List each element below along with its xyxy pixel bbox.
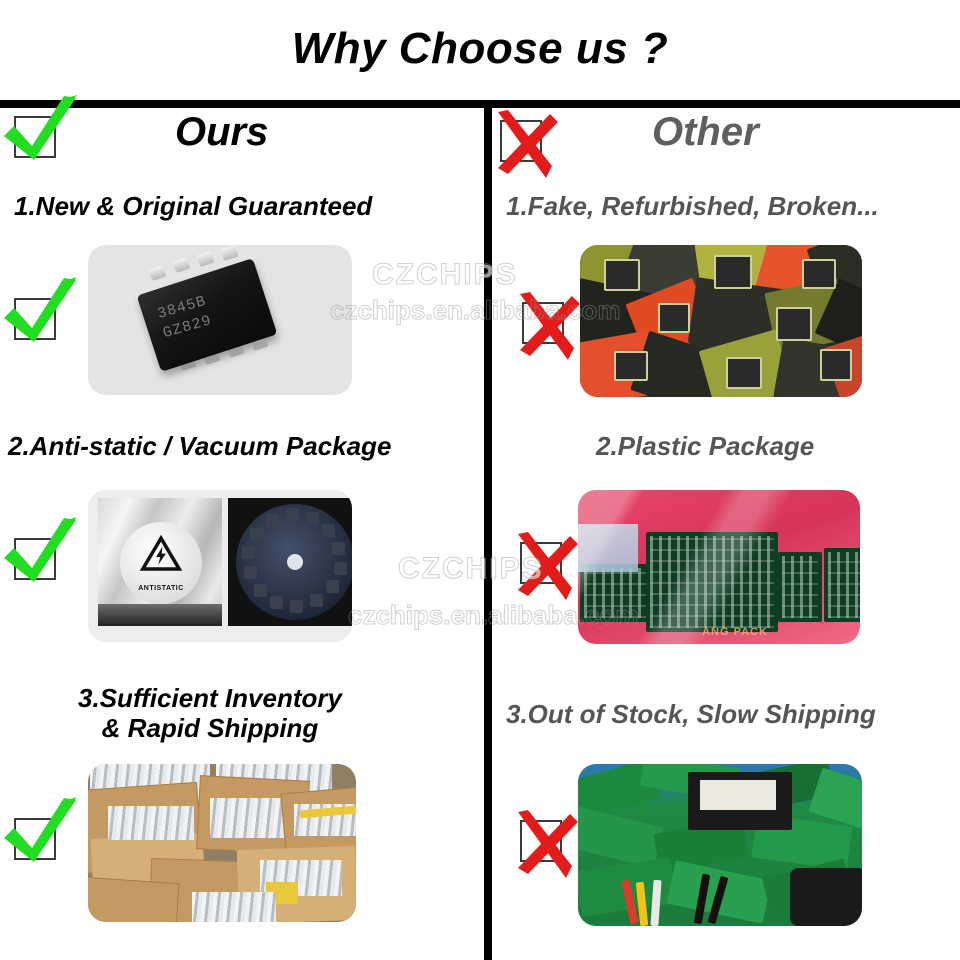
column-label-other: Other	[652, 110, 759, 155]
cross-icon	[490, 108, 560, 180]
pack-print: ANG PACK	[702, 626, 768, 638]
scrap-chips-photo	[580, 245, 862, 397]
checkbox-ours-header[interactable]	[14, 116, 56, 158]
header-divider-horizontal	[0, 100, 960, 108]
row-3-other-title: 3.Out of Stock, Slow Shipping	[506, 700, 876, 730]
soic-chip-photo: 3845BGZ829	[88, 245, 352, 395]
check-icon	[0, 92, 82, 170]
cross-icon	[512, 290, 582, 362]
antistatic-label-disc: ANTISTATIC	[120, 522, 202, 604]
row-1-other-title: 1.Fake, Refurbished, Broken...	[506, 192, 879, 222]
plastic-package-photo: ANG PACK	[578, 490, 860, 644]
comparison-row-2: 2.Anti-static / Vacuum Package	[0, 426, 960, 666]
row-1-ours: 1.New & Original Guaranteed	[0, 190, 484, 422]
checkbox-other-header[interactable]	[500, 120, 542, 162]
row-3-ours-title: 3.Sufficient Inventory& Rapid Shipping	[40, 684, 380, 743]
comparison-row-3: 3.Sufficient Inventory& Rapid Shipping	[0, 678, 960, 960]
cross-icon	[510, 530, 580, 602]
column-header-other: Other	[492, 108, 960, 178]
row-2-ours: 2.Anti-static / Vacuum Package	[0, 426, 484, 666]
tape-reel-box	[228, 498, 352, 626]
row-3-ours-photo	[88, 764, 356, 922]
antistatic-bag-photo: ANTISTATIC	[88, 490, 352, 642]
row-1-ours-title: 1.New & Original Guaranteed	[14, 192, 372, 222]
ewaste-pile-photo	[578, 764, 862, 926]
check-icon	[0, 274, 82, 352]
checkbox-row-3-other[interactable]	[520, 820, 562, 862]
row-1-ours-photo: 3845BGZ829	[88, 245, 352, 395]
antistatic-bag: ANTISTATIC	[98, 498, 222, 626]
column-label-ours: Ours	[175, 110, 268, 155]
row-3-ours: 3.Sufficient Inventory& Rapid Shipping	[0, 678, 484, 960]
check-icon	[0, 794, 82, 872]
checkbox-row-3-ours[interactable]	[14, 818, 56, 860]
row-2-other-photo: ANG PACK	[578, 490, 860, 644]
row-3-other: 3.Out of Stock, Slow Shipping	[492, 678, 960, 960]
comparison-row-1: 1.New & Original Guaranteed	[0, 190, 960, 422]
row-2-other: 2.Plastic Package ANG PACK	[492, 426, 960, 666]
tape-reel	[236, 504, 352, 620]
row-3-other-photo	[578, 764, 862, 926]
column-header-ours: Ours	[0, 108, 484, 178]
row-2-ours-title: 2.Anti-static / Vacuum Package	[8, 432, 391, 462]
checkbox-row-2-ours[interactable]	[14, 538, 56, 580]
esd-warning-icon	[140, 534, 182, 576]
checkbox-row-2-other[interactable]	[520, 542, 562, 584]
chip-marking: 3845BGZ829	[155, 292, 214, 345]
row-1-other: 1.Fake, Refurbished, Broken...	[492, 190, 960, 422]
checkbox-row-1-ours[interactable]	[14, 298, 56, 340]
row-1-other-photo	[580, 245, 862, 397]
antistatic-bag-label: ANTISTATIC	[120, 585, 202, 592]
page-title: Why Choose us ?	[0, 24, 960, 74]
row-2-other-title: 2.Plastic Package	[596, 432, 814, 462]
inventory-cartons-photo	[88, 764, 356, 922]
comparison-infographic: Why Choose us ? Ours Other 1.New & Origi…	[0, 0, 960, 960]
check-icon	[0, 514, 82, 592]
row-3-ours-title-line2: & Rapid Shipping	[102, 713, 319, 743]
checkbox-row-1-other[interactable]	[522, 302, 564, 344]
row-3-ours-title-line1: 3.Sufficient Inventory	[78, 683, 342, 713]
row-2-ours-photo: ANTISTATIC	[88, 490, 352, 642]
cross-icon	[510, 808, 580, 880]
